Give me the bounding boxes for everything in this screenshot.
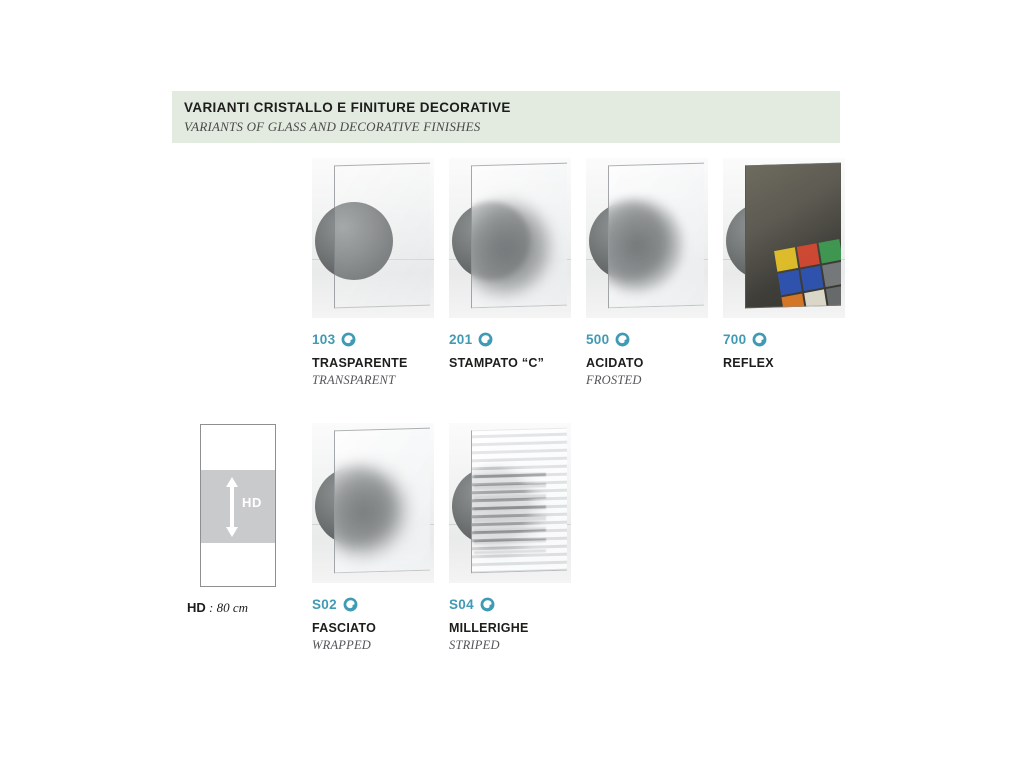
pane-surface xyxy=(335,428,430,574)
pane-surface xyxy=(609,163,704,309)
variant-name-it: MILLERIGHE xyxy=(449,621,571,635)
checker-swatch xyxy=(796,243,820,268)
checker-swatch xyxy=(823,262,841,287)
variant-code-line: S04 xyxy=(449,595,571,613)
checker-swatch xyxy=(826,285,841,308)
glass-variant-card-s04[interactable]: S04 MILLERIGHE STRIPED xyxy=(449,423,571,653)
variant-code-line: 700 xyxy=(723,330,845,348)
glass-variant-card-700[interactable]: 700 REFLEX xyxy=(723,158,845,373)
variant-name-en: WRAPPED xyxy=(312,638,434,653)
glass-variant-card-201[interactable]: 201 STAMPATO “C” xyxy=(449,158,571,373)
glass-drop-icon xyxy=(480,597,495,612)
checker-swatch xyxy=(800,266,824,291)
glass-variant-card-103[interactable]: 103 TRASPARENTE TRANSPARENT xyxy=(312,158,434,388)
variant-name-it: TRASPARENTE xyxy=(312,356,434,370)
checker-swatch xyxy=(778,270,802,295)
glass-pane xyxy=(745,163,841,309)
diffused-sphere xyxy=(335,464,407,558)
glass-drop-icon xyxy=(615,332,630,347)
checker-swatch xyxy=(819,239,841,264)
glass-pane xyxy=(608,163,704,309)
glass-variant-card-s02[interactable]: S02 FASCIATO WRAPPED xyxy=(312,423,434,653)
glass-pane xyxy=(334,163,430,309)
hd-caption: HD : 80 cm xyxy=(187,600,286,616)
variant-name-it: STAMPATO “C” xyxy=(449,356,571,370)
glass-variants-row-1: 103 TRASPARENTE TRANSPARENT 201 xyxy=(312,158,860,388)
wrapped-glass-photo xyxy=(312,423,434,583)
frosted-glass-photo xyxy=(586,158,708,318)
diffused-sphere xyxy=(609,197,683,294)
variant-name-it: FASCIATO xyxy=(312,621,434,635)
page-subtitle: VARIANTS OF GLASS AND DECORATIVE FINISHE… xyxy=(184,118,840,135)
variant-name-it: ACIDATO xyxy=(586,356,708,370)
variant-code-line: S02 xyxy=(312,595,434,613)
variant-code: 103 xyxy=(312,332,335,347)
section-header-band: VARIANTI CRISTALLO E FINITURE DECORATIVE… xyxy=(172,91,840,143)
pane-surface xyxy=(746,163,841,309)
color-checker-reflection xyxy=(774,239,841,308)
variant-code: 500 xyxy=(586,332,609,347)
hd-caption-value: 80 cm xyxy=(217,600,248,615)
pane-surface xyxy=(472,428,567,574)
glass-drop-icon xyxy=(341,332,356,347)
pane-surface xyxy=(335,163,430,309)
reflex-mirror-glass-photo xyxy=(723,158,845,318)
glass-pane xyxy=(471,163,567,309)
checker-swatch xyxy=(804,289,828,308)
variant-name-en: FROSTED xyxy=(586,373,708,388)
variant-code: S04 xyxy=(449,597,474,612)
glass-drop-icon xyxy=(478,332,493,347)
diffused-sphere xyxy=(472,199,552,298)
checker-swatch xyxy=(774,247,798,272)
variant-code: 700 xyxy=(723,332,746,347)
variant-code: 201 xyxy=(449,332,472,347)
hd-dimension-diagram: HD HD : 80 cm xyxy=(200,424,286,616)
glass-pane xyxy=(471,428,567,574)
variant-code-line: 500 xyxy=(586,330,708,348)
variant-code: S02 xyxy=(312,597,337,612)
glass-pane xyxy=(334,428,430,574)
variant-name-en: STRIPED xyxy=(449,638,571,653)
stripe-texture-overlay xyxy=(472,428,567,574)
hd-band-label: HD xyxy=(242,495,262,510)
hd-caption-sep: : xyxy=(206,600,217,615)
variant-code-line: 103 xyxy=(312,330,434,348)
checker-swatch xyxy=(781,293,805,308)
variant-name-it: REFLEX xyxy=(723,356,845,370)
double-arrow-vertical-icon xyxy=(225,477,239,537)
printed-c-glass-photo xyxy=(449,158,571,318)
glass-drop-icon xyxy=(343,597,358,612)
glass-drop-icon xyxy=(752,332,767,347)
pane-surface xyxy=(472,163,567,309)
variant-code-line: 201 xyxy=(449,330,571,348)
striped-glass-photo xyxy=(449,423,571,583)
hd-caption-key: HD xyxy=(187,600,206,615)
variant-name-en: TRANSPARENT xyxy=(312,373,434,388)
hd-panel-outline: HD xyxy=(200,424,276,587)
glass-variants-row-2: S02 FASCIATO WRAPPED S0 xyxy=(312,423,586,653)
page-title: VARIANTI CRISTALLO E FINITURE DECORATIVE xyxy=(184,99,840,116)
glass-variant-card-500[interactable]: 500 ACIDATO FROSTED xyxy=(586,158,708,388)
transparent-glass-photo xyxy=(312,158,434,318)
